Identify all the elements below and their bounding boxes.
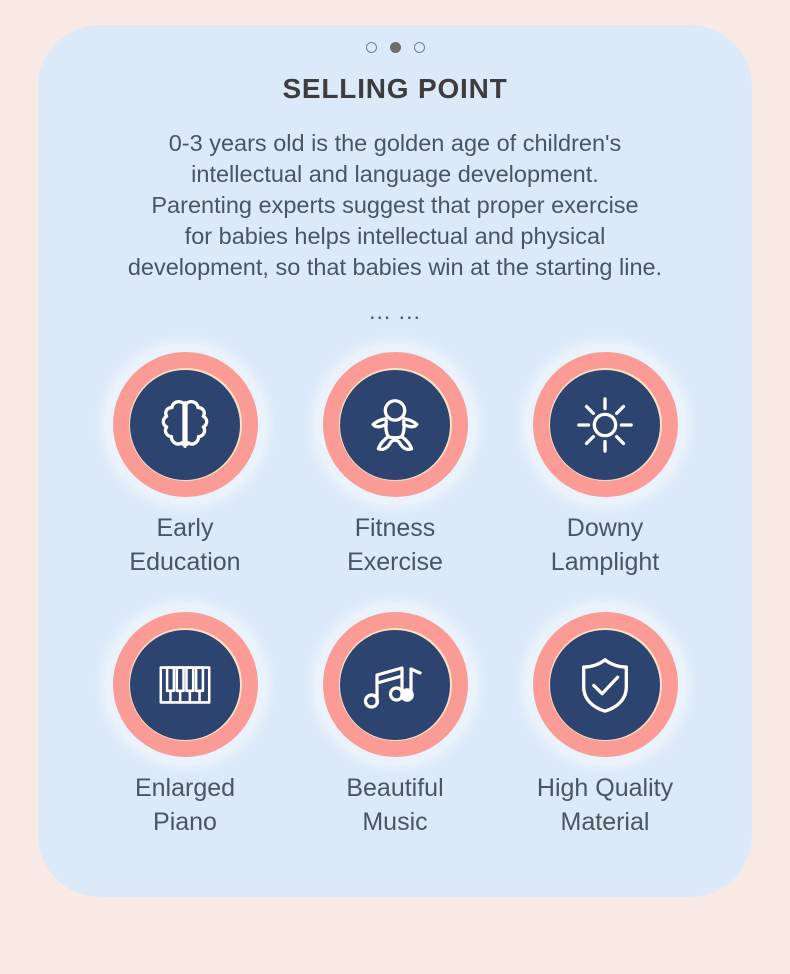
feature-caption: Fitness Exercise <box>347 511 443 579</box>
feature-badge <box>533 612 678 757</box>
feature-label-line1: Early <box>129 511 240 545</box>
feature-caption: Enlarged Piano <box>135 771 235 839</box>
pager-dot-2[interactable] <box>390 42 401 53</box>
description-line-2: intellectual and language development. <box>38 159 752 190</box>
feature-disc <box>130 370 240 480</box>
description-line-3: Parenting experts suggest that proper ex… <box>38 190 752 221</box>
feature-grid: Early Education <box>80 352 710 839</box>
feature-fitness-exercise[interactable]: Fitness Exercise <box>290 352 500 579</box>
feature-label-line2: Lamplight <box>551 545 659 579</box>
feature-label-line2: Exercise <box>347 545 443 579</box>
feature-caption: Early Education <box>129 511 240 579</box>
feature-label-line1: High Quality <box>537 771 673 805</box>
description-text: 0-3 years old is the golden age of child… <box>38 128 752 283</box>
sun-icon <box>574 394 636 456</box>
shield-check-icon <box>574 654 636 716</box>
feature-label-line1: Fitness <box>347 511 443 545</box>
description-line-1: 0-3 years old is the golden age of child… <box>38 128 752 159</box>
feature-badge <box>113 612 258 757</box>
feature-disc <box>340 630 450 740</box>
feature-caption: High Quality Material <box>537 771 673 839</box>
feature-badge <box>323 352 468 497</box>
description-line-4: for babies helps intellectual and physic… <box>38 221 752 252</box>
feature-disc <box>130 630 240 740</box>
feature-label-line1: Beautiful <box>346 771 443 805</box>
feature-caption: Beautiful Music <box>346 771 443 839</box>
pager-dot-3[interactable] <box>414 42 425 53</box>
baby-figure-icon <box>364 394 426 456</box>
feature-early-education[interactable]: Early Education <box>80 352 290 579</box>
feature-disc <box>340 370 450 480</box>
feature-beautiful-music[interactable]: Beautiful Music <box>290 612 500 839</box>
feature-label-line1: Enlarged <box>135 771 235 805</box>
feature-downy-lamplight[interactable]: Downy Lamplight <box>500 352 710 579</box>
description-ellipsis: ... ... <box>38 298 752 325</box>
feature-label-line1: Downy <box>551 511 659 545</box>
feature-enlarged-piano[interactable]: Enlarged Piano <box>80 612 290 839</box>
description-line-5: development, so that babies win at the s… <box>38 252 752 283</box>
pagination-dots <box>38 42 752 53</box>
feature-badge <box>113 352 258 497</box>
feature-label-line2: Music <box>346 805 443 839</box>
music-notes-icon <box>363 653 427 717</box>
piano-keyboard-icon <box>154 654 216 716</box>
selling-point-card: SELLING POINT 0-3 years old is the golde… <box>38 25 752 897</box>
brain-icon <box>154 394 216 456</box>
feature-badge <box>533 352 678 497</box>
feature-label-line2: Piano <box>135 805 235 839</box>
feature-disc <box>550 630 660 740</box>
feature-badge <box>323 612 468 757</box>
pager-dot-1[interactable] <box>366 42 377 53</box>
feature-high-quality-material[interactable]: High Quality Material <box>500 612 710 839</box>
feature-label-line2: Material <box>537 805 673 839</box>
page-title: SELLING POINT <box>38 73 752 105</box>
feature-caption: Downy Lamplight <box>551 511 659 579</box>
feature-disc <box>550 370 660 480</box>
feature-label-line2: Education <box>129 545 240 579</box>
